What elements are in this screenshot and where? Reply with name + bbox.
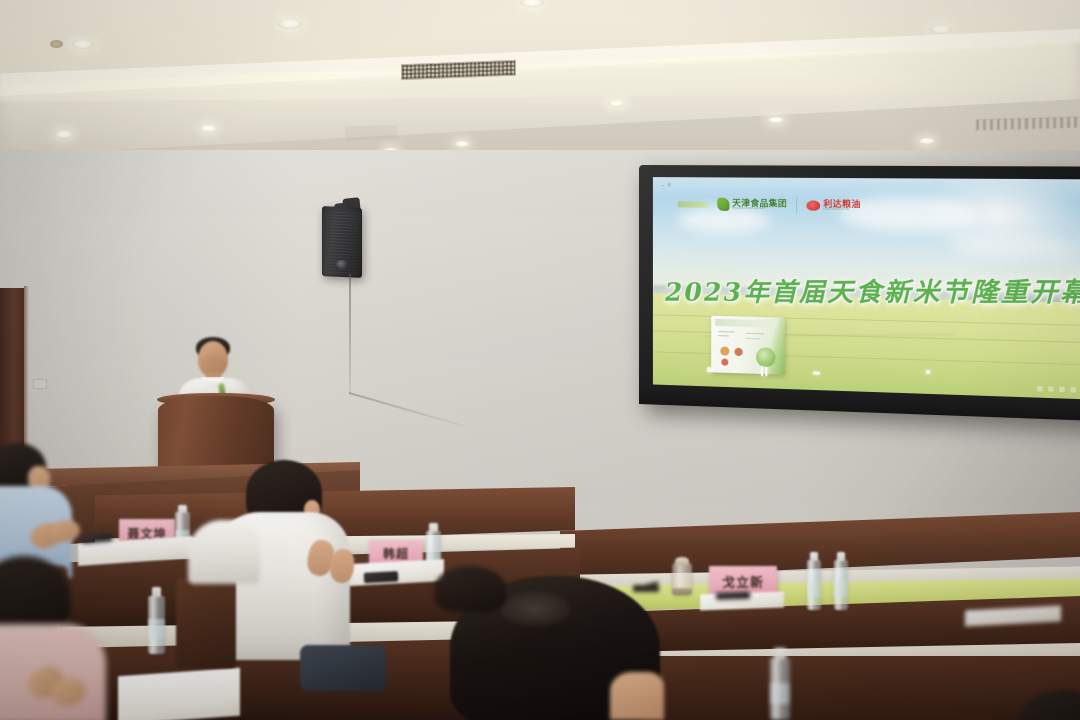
progress-dot[interactable] bbox=[926, 370, 930, 374]
bottle-label bbox=[148, 619, 165, 639]
attendee-front-woman-hair-highlight bbox=[500, 592, 570, 626]
smoke-detector-icon bbox=[50, 40, 63, 48]
box-detail bbox=[718, 331, 734, 333]
player-icon[interactable] bbox=[1037, 386, 1043, 391]
box-detail bbox=[746, 338, 760, 340]
blossom-mark-icon bbox=[807, 200, 821, 210]
box-detail bbox=[718, 335, 729, 337]
logo-text-en: TIANJIN FOOD GROUP bbox=[732, 208, 787, 211]
player-icon[interactable] bbox=[1048, 387, 1054, 392]
attendee-partial-hair bbox=[434, 566, 506, 612]
downlight-icon bbox=[768, 117, 784, 123]
downlight-icon bbox=[455, 141, 469, 147]
attendee-left-of-mid bbox=[188, 520, 260, 584]
downlight-icon bbox=[55, 131, 73, 138]
water-bottle bbox=[807, 560, 821, 610]
desk-row-1-right-front-panel bbox=[600, 656, 1080, 720]
bottle-label bbox=[834, 580, 848, 597]
desk-microphone bbox=[633, 585, 659, 592]
box-top-band bbox=[715, 318, 778, 327]
box-icon bbox=[734, 347, 742, 355]
box-detail bbox=[746, 332, 764, 334]
conference-room-photo: ⌄ ⊡ 天津食品集团 TIANJIN FOOD GROUP 利达粮油 LIDA … bbox=[0, 0, 1080, 720]
wall-display[interactable]: ⌄ ⊡ 天津食品集团 TIANJIN FOOD GROUP 利达粮油 LIDA … bbox=[639, 165, 1080, 421]
attendee-mid-trousers bbox=[300, 645, 386, 691]
downlight-icon bbox=[608, 100, 625, 107]
document bbox=[118, 668, 240, 720]
logo-tianjin-food-group: 天津食品集团 TIANJIN FOOD GROUP bbox=[717, 198, 787, 212]
window-controls[interactable]: ⌄ ⊡ bbox=[661, 182, 672, 187]
wall-switch bbox=[73, 452, 79, 461]
logo-text-cn: 利达粮油 bbox=[823, 199, 860, 208]
downlight-icon bbox=[72, 40, 94, 49]
tea-cup bbox=[672, 563, 692, 595]
display-screen[interactable]: ⌄ ⊡ 天津食品集团 TIANJIN FOOD GROUP 利达粮油 LIDA … bbox=[653, 177, 1080, 399]
slide-headline: 2023年首届天食新米节隆重开幕 bbox=[665, 272, 1076, 310]
bottle-label bbox=[807, 580, 821, 597]
wall-outlet bbox=[33, 379, 47, 389]
mobile-phone bbox=[716, 591, 750, 599]
player-icon[interactable] bbox=[1059, 387, 1065, 392]
downlight-icon bbox=[278, 19, 302, 29]
nameplate-text: 戈立新 bbox=[722, 572, 764, 591]
downlight-icon bbox=[200, 125, 217, 132]
next-button[interactable] bbox=[813, 371, 820, 374]
bottle-label bbox=[770, 683, 790, 704]
attendee-front-woman-shoulder bbox=[610, 672, 664, 720]
logo-text-en: LIDA GRAIN & OIL bbox=[823, 209, 860, 212]
wall-speaker bbox=[322, 206, 362, 278]
mobile-phone bbox=[364, 571, 398, 583]
box-icon bbox=[720, 346, 729, 355]
chair-back-mid bbox=[176, 578, 236, 668]
speaker-cable bbox=[349, 274, 351, 394]
stop-button[interactable] bbox=[707, 368, 712, 373]
player-extra-icons[interactable] bbox=[1037, 386, 1076, 393]
downlight-icon bbox=[919, 138, 935, 144]
player-icon[interactable] bbox=[1070, 387, 1076, 392]
water-bottle bbox=[834, 560, 848, 610]
downlight-icon bbox=[930, 25, 952, 34]
slide-logo-row: 天津食品集团 TIANJIN FOOD GROUP 利达粮油 LIDA GRAI… bbox=[678, 196, 861, 214]
leaf-mark-icon bbox=[717, 198, 729, 211]
logo-tag-bar bbox=[678, 201, 708, 207]
pause-button[interactable] bbox=[761, 367, 767, 376]
logo-lida-grain-oil: 利达粮油 LIDA GRAIN & OIL bbox=[807, 199, 861, 212]
nameplate-text: 韩超 bbox=[383, 545, 409, 562]
logo-divider bbox=[796, 197, 797, 213]
water-bottle bbox=[770, 658, 790, 720]
water-bottle bbox=[148, 596, 165, 654]
speaker-driver-icon bbox=[336, 260, 348, 270]
ceiling-access-panel bbox=[345, 125, 397, 140]
